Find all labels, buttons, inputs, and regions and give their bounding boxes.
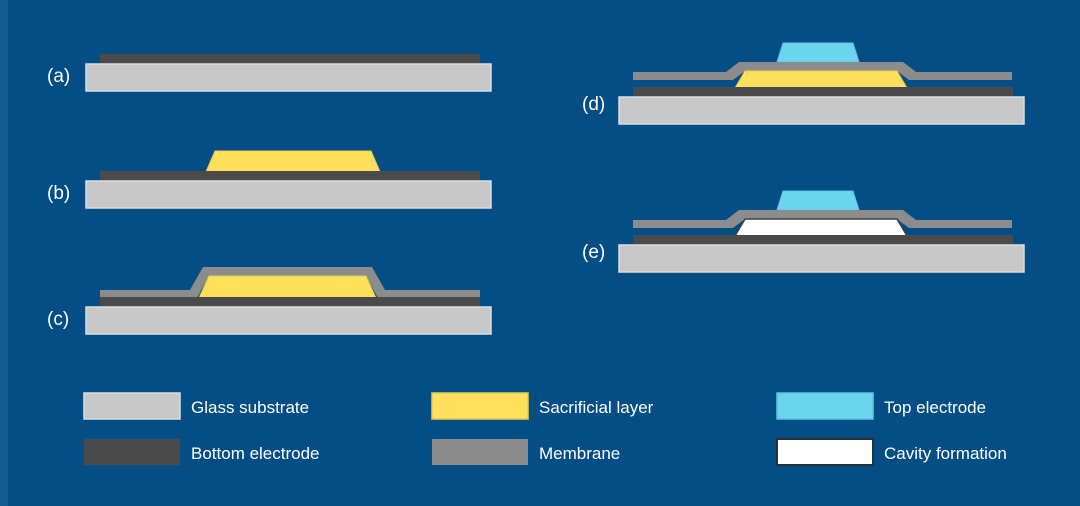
legend-label-bottom-electrode: Bottom electrode	[191, 444, 320, 463]
panel-a-label: (a)	[47, 66, 70, 87]
panel-c-bottom-electrode	[100, 297, 480, 307]
legend-label-membrane: Membrane	[539, 444, 620, 463]
panel-d-bottom-electrode	[633, 87, 1013, 97]
legend-swatch-cavity-formation	[777, 439, 873, 465]
legend-swatch-glass-substrate	[84, 393, 180, 419]
panel-a: (a)	[47, 54, 491, 91]
legend-item-membrane: Membrane	[432, 439, 620, 465]
panel-c: (c)	[47, 267, 491, 334]
panel-e-cavity-formation	[735, 219, 907, 236]
figure-root: (a) (b) (c) (d)	[0, 0, 1080, 506]
panel-b-label: (b)	[47, 183, 70, 204]
legend-item-sacrificial-layer: Sacrificial layer	[432, 393, 654, 419]
legend-swatch-membrane	[432, 439, 528, 465]
panel-c-sacrificial-layer	[199, 276, 376, 298]
legend-label-glass-substrate: Glass substrate	[191, 398, 309, 417]
panel-b-sacrificial-layer	[205, 151, 381, 174]
panel-c-label: (c)	[47, 309, 69, 330]
panel-d: (d)	[582, 43, 1024, 124]
panel-b-glass-substrate	[86, 181, 491, 208]
panel-e-glass-substrate	[619, 245, 1024, 272]
legend-label-sacrificial-layer: Sacrificial layer	[539, 398, 654, 417]
legend-swatch-bottom-electrode	[84, 439, 180, 465]
legend-item-glass-substrate: Glass substrate	[84, 393, 309, 419]
panel-a-bottom-electrode	[100, 54, 480, 64]
panel-e-top-electrode	[777, 191, 859, 210]
panel-e: (e)	[582, 191, 1024, 272]
panel-d-label: (d)	[582, 94, 605, 115]
process-flow-diagram: (a) (b) (c) (d)	[0, 0, 1080, 506]
panel-e-bottom-electrode	[633, 235, 1013, 245]
panel-b-bottom-electrode	[100, 171, 480, 181]
legend-swatch-sacrificial-layer	[432, 393, 528, 419]
legend-item-cavity-formation: Cavity formation	[777, 439, 1007, 465]
legend: Glass substrate Bottom electrode Sacrifi…	[84, 393, 1007, 465]
legend-swatch-top-electrode	[777, 393, 873, 419]
panel-d-sacrificial-layer	[735, 71, 907, 88]
panel-e-label: (e)	[582, 242, 605, 263]
legend-item-bottom-electrode: Bottom electrode	[84, 439, 320, 465]
panel-d-glass-substrate	[619, 97, 1024, 124]
panel-a-glass-substrate	[86, 64, 491, 91]
panel-c-glass-substrate	[86, 307, 491, 334]
legend-item-top-electrode: Top electrode	[777, 393, 986, 419]
panel-b: (b)	[47, 151, 491, 208]
panel-d-top-electrode	[777, 43, 859, 62]
legend-label-cavity-formation: Cavity formation	[884, 444, 1007, 463]
legend-label-top-electrode: Top electrode	[884, 398, 986, 417]
